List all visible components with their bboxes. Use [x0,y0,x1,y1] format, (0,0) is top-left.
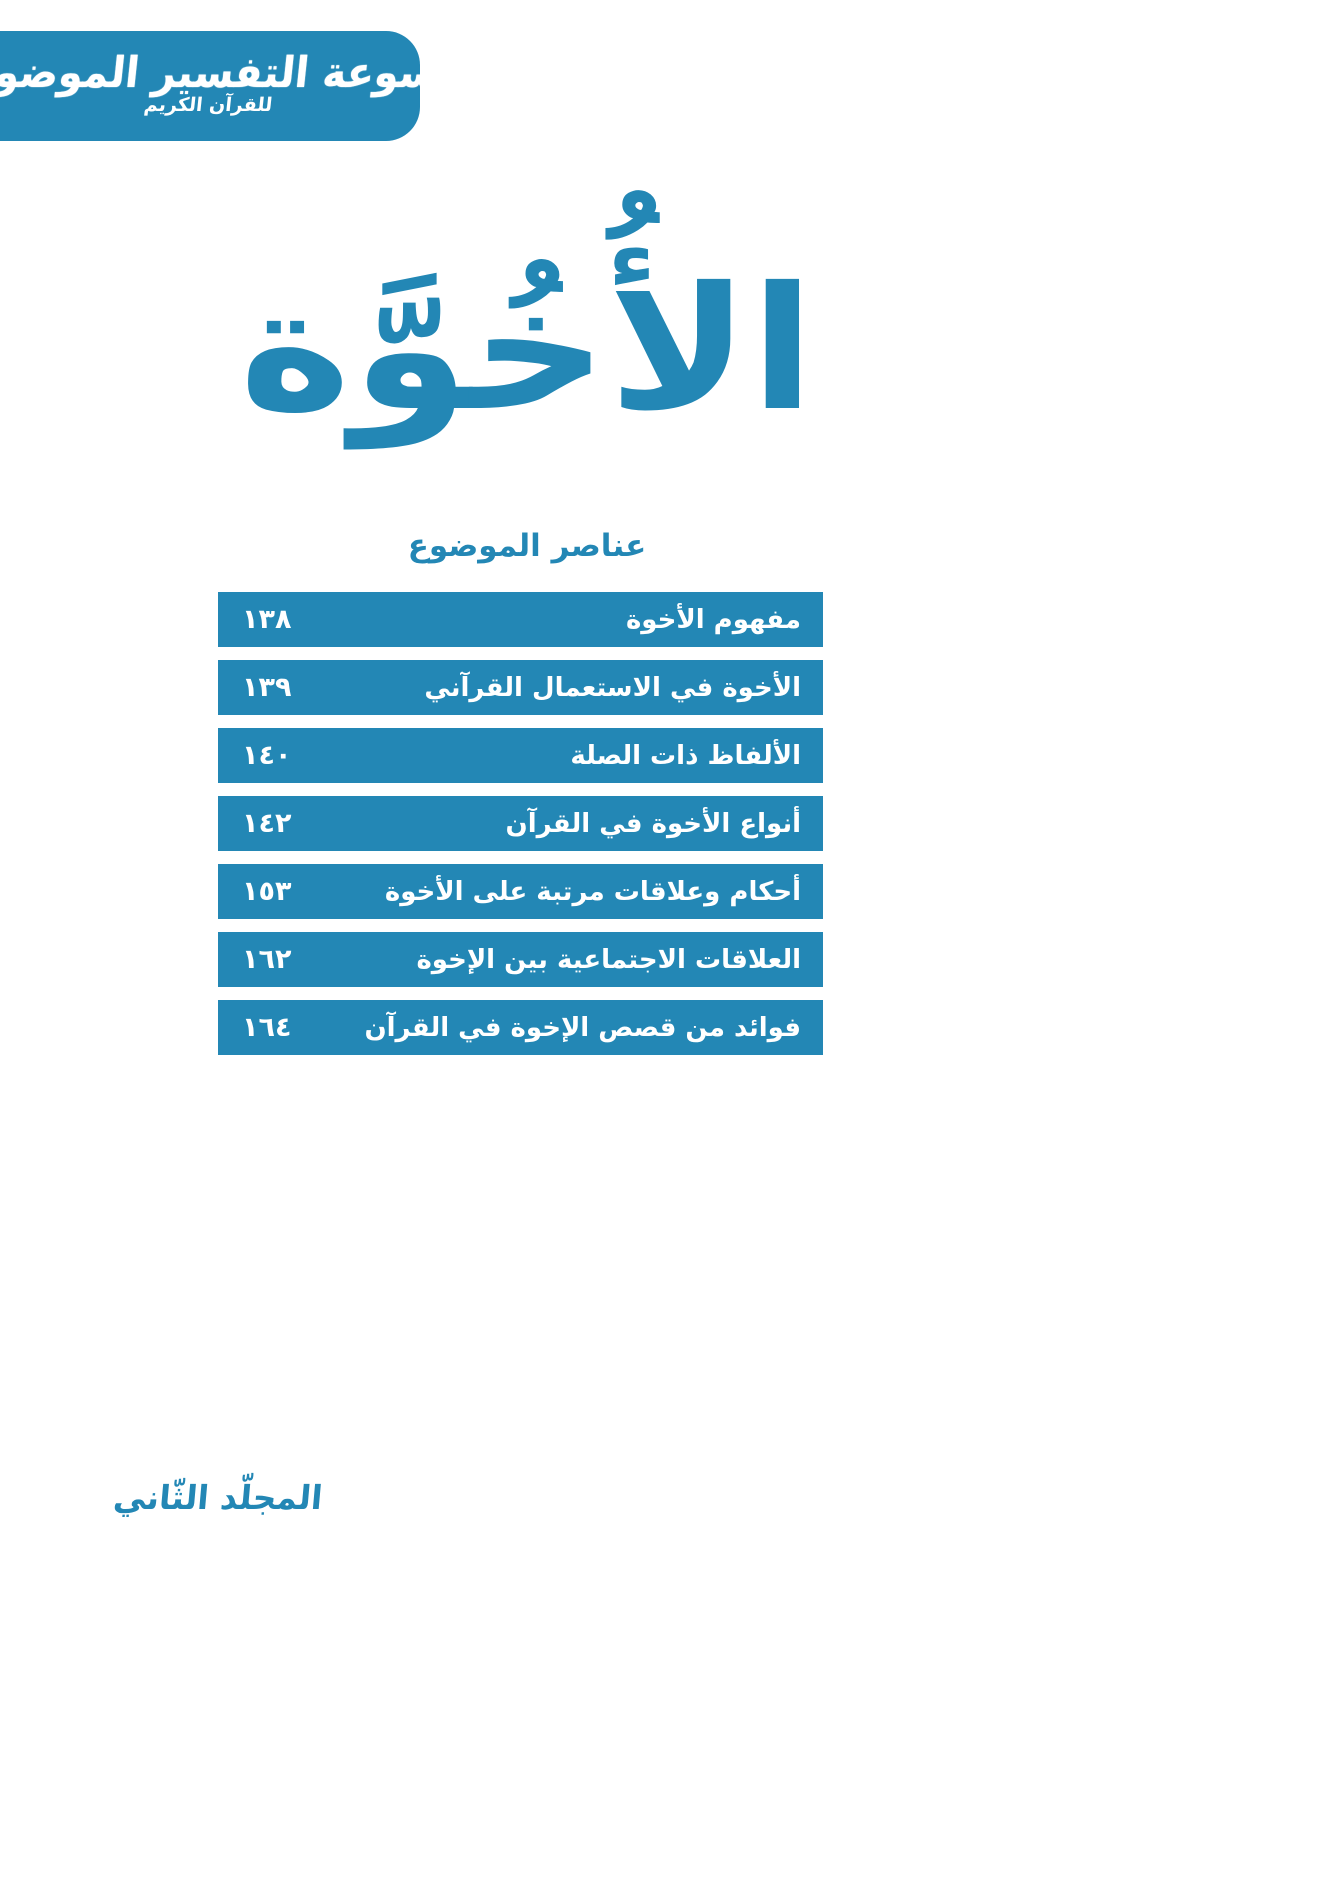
page-title: الأُخُوَّة [0,236,1117,466]
toc-entry-page-number: ١٣٩ [242,674,314,701]
volume-label: المجلّد الثّاني [86,1478,349,1517]
table-row[interactable]: أحكام وعلاقات مرتبة على الأخوة ١٥٣ [218,864,823,919]
toc-entry-label: فوائد من قصص الإخوة في القرآن [314,1015,801,1041]
toc-entry-label: الأخوة في الاستعمال القرآني [314,675,801,701]
encyclopedia-logo-banner: موسوعة التفسير الموضوعي للقرآن الكريم [0,31,420,141]
toc-entry-label: مفهوم الأخوة [314,607,801,633]
table-row[interactable]: أنواع الأخوة في القرآن ١٤٢ [218,796,823,851]
toc-entry-label: الألفاظ ذات الصلة [314,743,801,769]
toc-entry-page-number: ١٤٢ [242,810,314,837]
toc-entry-page-number: ١٣٨ [242,606,314,633]
table-of-contents: مفهوم الأخوة ١٣٨ الأخوة في الاستعمال الق… [218,592,823,1055]
table-row[interactable]: العلاقات الاجتماعية بين الإخوة ١٦٢ [218,932,823,987]
toc-entry-page-number: ١٦٤ [242,1014,314,1041]
toc-entry-label: العلاقات الاجتماعية بين الإخوة [314,947,801,973]
elements-heading: عناصر الموضوع [0,528,1054,564]
table-row[interactable]: الأخوة في الاستعمال القرآني ١٣٩ [218,660,823,715]
toc-entry-page-number: ١٦٢ [242,946,314,973]
table-row[interactable]: مفهوم الأخوة ١٣٨ [218,592,823,647]
logo-title-sub: للقرآن الكريم [143,95,273,116]
toc-entry-page-number: ١٤٠ [242,742,314,769]
toc-entry-page-number: ١٥٣ [242,878,314,905]
toc-entry-label: أحكام وعلاقات مرتبة على الأخوة [314,879,801,905]
table-row[interactable]: الألفاظ ذات الصلة ١٤٠ [218,728,823,783]
toc-entry-label: أنواع الأخوة في القرآن [314,811,801,837]
logo-title-main: موسوعة التفسير الموضوعي [0,51,491,96]
table-row[interactable]: فوائد من قصص الإخوة في القرآن ١٦٤ [218,1000,823,1055]
